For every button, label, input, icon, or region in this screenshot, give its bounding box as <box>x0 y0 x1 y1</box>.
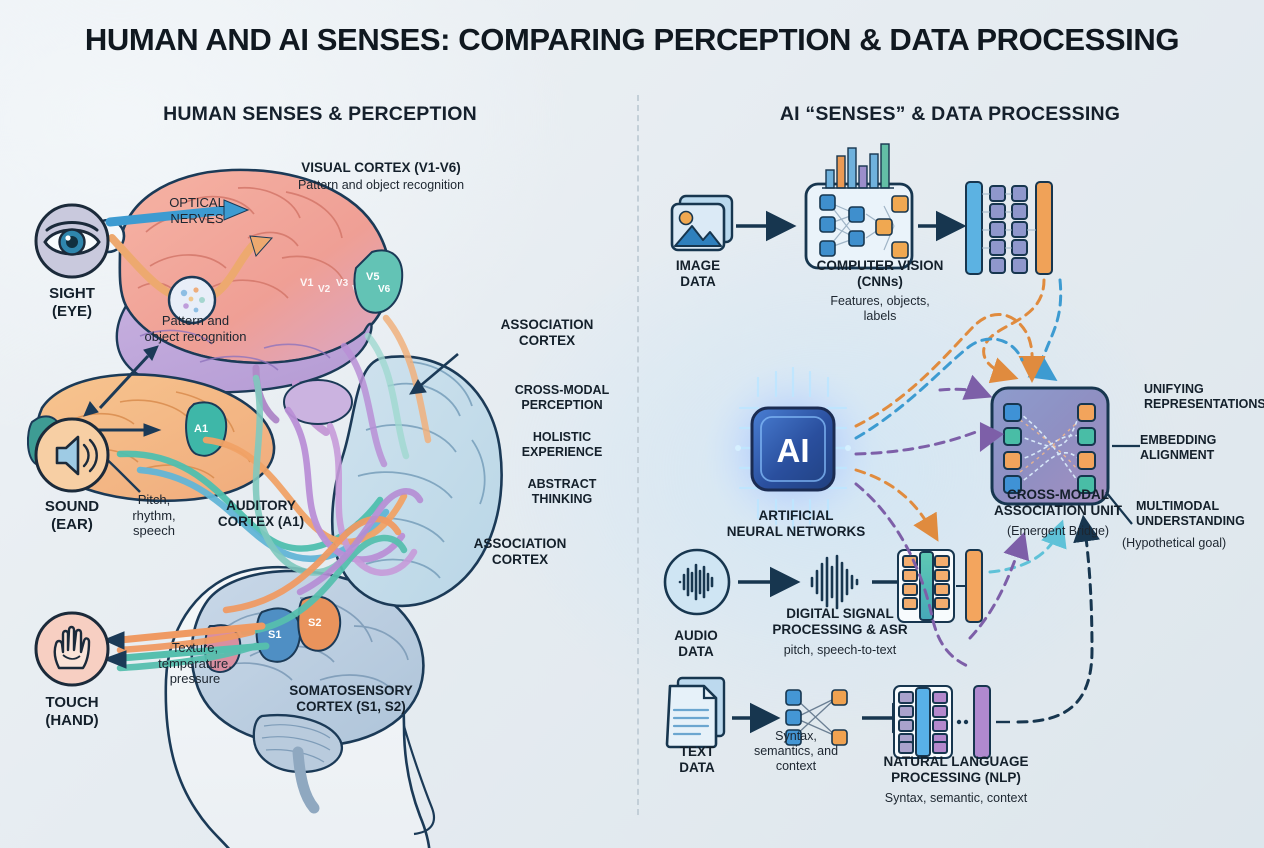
assoc-function-cross-modal: CROSS-MODAL PERCEPTION <box>497 383 627 412</box>
visual-cortex-title: VISUAL CORTEX (V1-V6) <box>250 160 512 176</box>
sound-detail-label: Pitch, rhythm, speech <box>118 492 190 539</box>
cross-modal-association-unit-sub: (Emergent Bridge) <box>980 524 1136 539</box>
touch-detail-label: Texture, temperature, pressure <box>140 640 250 687</box>
svg-text:V1: V1 <box>300 277 313 289</box>
nlp-label: NATURAL LANGUAGE PROCESSING (NLP) <box>858 754 1054 785</box>
svg-text:S1: S1 <box>268 629 281 641</box>
sense-sublabel-touch: (HAND) <box>8 712 136 729</box>
sense-label-sight: SIGHT <box>8 285 136 302</box>
sense-sublabel-sound: (EAR) <box>8 516 136 533</box>
eye-icon <box>33 202 111 280</box>
sight-detail-label: Pattern and object recognition <box>118 313 273 344</box>
dsp-asr-label: DIGITAL SIGNAL PROCESSING & ASR <box>750 606 930 637</box>
nlp-sub: Syntax, semantic, context <box>856 791 1056 806</box>
visual-cortex-subtitle: Pattern and object recognition <box>245 178 517 193</box>
infographic-canvas: HUMAN AND AI SENSES: COMPARING PERCEPTIO… <box>0 0 1264 848</box>
svg-text:A1: A1 <box>194 423 208 435</box>
association-cortex-bottom-label: ASSOCIATION CORTEX <box>450 536 590 567</box>
outcome-unifying-representations: UNIFYING REPRESENTATIONS <box>1144 382 1264 411</box>
outcome-multimodal-sub: (Hypothetical goal) <box>1122 536 1264 551</box>
nlp-mid-label: Syntax, semantics, and context <box>737 729 855 773</box>
optical-nerves-label: OPTICAL NERVES <box>142 195 252 226</box>
svg-text:S2: S2 <box>308 617 321 629</box>
sense-label-touch: TOUCH <box>8 694 136 711</box>
speaker-icon <box>33 416 111 494</box>
svg-text:V2: V2 <box>318 284 331 295</box>
page-title: HUMAN AND AI SENSES: COMPARING PERCEPTIO… <box>0 22 1264 58</box>
sense-label-sound: SOUND <box>8 498 136 515</box>
image-data-label: IMAGE DATA <box>658 258 738 289</box>
right-panel-heading: AI “SENSES” & DATA PROCESSING <box>690 103 1210 126</box>
cross-modal-association-unit-label: CROSS-MODAL ASSOCIATION UNIT <box>980 487 1136 518</box>
assoc-function-abstract: ABSTRACT THINKING <box>497 477 627 506</box>
artificial-neural-networks-label: ARTIFICIAL NEURAL NETWORKS <box>712 508 880 539</box>
computer-vision-label: COMPUTER VISION (CNNs) <box>790 258 970 289</box>
svg-text:V6: V6 <box>378 284 391 295</box>
ai-pipeline-illustration: AI <box>640 140 1264 840</box>
auditory-cortex-label: AUDITORY CORTEX (A1) <box>185 498 337 529</box>
outcome-multimodal-understanding: MULTIMODAL UNDERSTANDING <box>1136 499 1264 528</box>
audio-data-label: AUDIO DATA <box>660 628 732 659</box>
ai-chip-text: AI <box>777 432 810 469</box>
sense-sublabel-sight: (EYE) <box>8 303 136 320</box>
assoc-function-holistic: HOLISTIC EXPERIENCE <box>497 430 627 459</box>
text-data-label: TEXT DATA <box>662 744 732 775</box>
svg-text:V5: V5 <box>366 271 379 283</box>
somatosensory-cortex-label: SOMATOSENSORY CORTEX (S1, S2) <box>256 683 446 714</box>
outcome-embedding-alignment: EMBEDDING ALIGNMENT <box>1140 433 1264 462</box>
dsp-asr-sub: pitch, speech-to-text <box>748 643 932 658</box>
computer-vision-sub: Features, objects, labels <box>795 294 965 324</box>
hand-icon <box>33 610 111 688</box>
left-panel-heading: HUMAN SENSES & PERCEPTION <box>60 103 580 126</box>
svg-text:V3: V3 <box>336 278 349 289</box>
association-cortex-top-label: ASSOCIATION CORTEX <box>477 317 617 348</box>
